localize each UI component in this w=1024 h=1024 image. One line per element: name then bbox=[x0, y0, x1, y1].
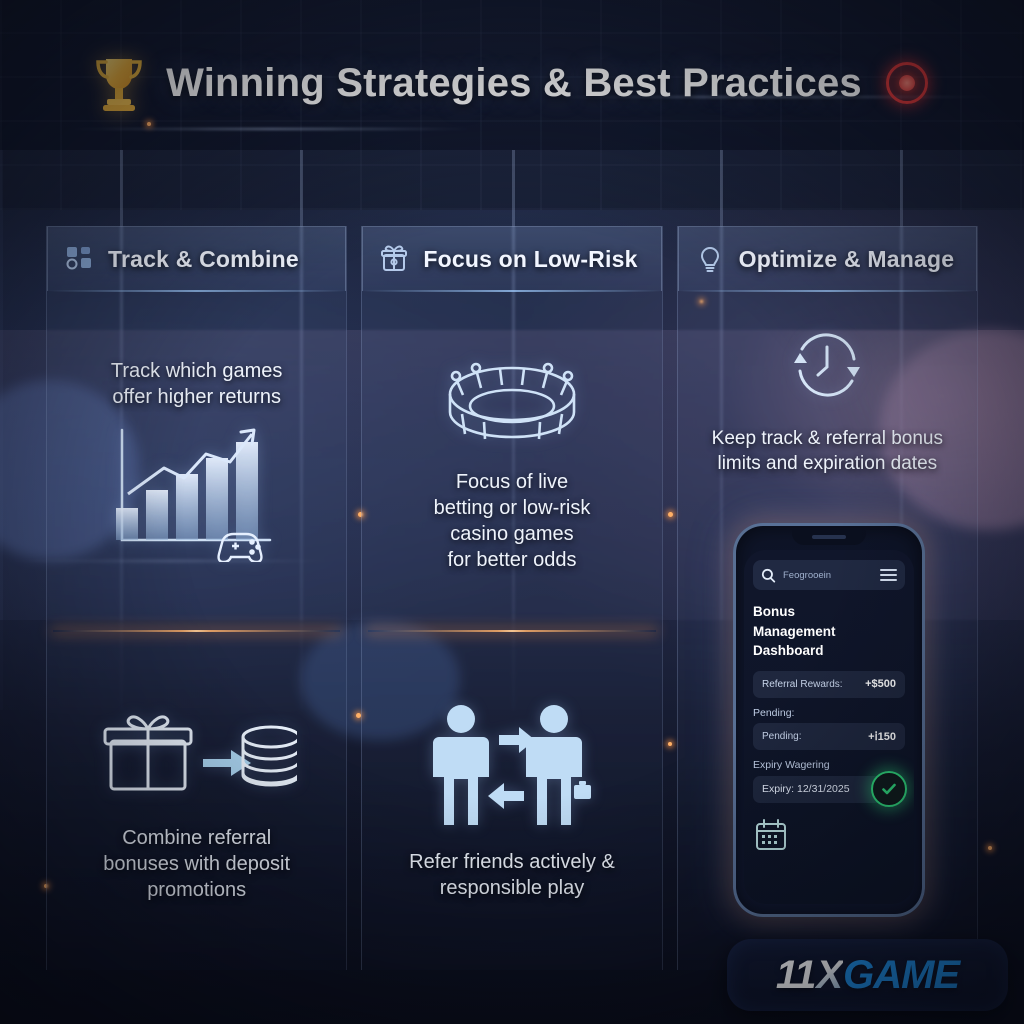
brand-part-game: GAME bbox=[843, 953, 959, 998]
brand-logo-text: 11 X GAME bbox=[776, 953, 959, 998]
grid-blocks-icon bbox=[64, 244, 94, 274]
row-label: Expiry: 12/31/2025 bbox=[762, 783, 850, 795]
row-expiry: Expiry: 12/31/2025 bbox=[753, 776, 905, 803]
search-icon bbox=[761, 568, 776, 583]
caption-focus-top: Focus of live betting or low-risk casino… bbox=[434, 469, 591, 573]
label-pending: Pending: bbox=[753, 707, 905, 719]
search-input[interactable]: Feogrooein bbox=[783, 570, 873, 581]
column-track-combine: Track & Combine Track which games offer … bbox=[46, 226, 347, 970]
row-label: Pending: bbox=[762, 731, 801, 742]
column-header-optimize-manage[interactable]: Optimize & Manage bbox=[678, 226, 977, 291]
row-label: Referral Rewards: bbox=[762, 679, 843, 690]
page-title-row: Winning Strategies & Best Practices bbox=[0, 46, 1024, 120]
hamburger-menu-icon[interactable] bbox=[880, 569, 897, 582]
row-value: +$500 bbox=[865, 678, 896, 690]
column-header-track-combine[interactable]: Track & Combine bbox=[47, 226, 346, 291]
trophy-icon bbox=[90, 53, 148, 113]
brand-logo-badge[interactable]: 11 X GAME bbox=[727, 939, 1008, 1011]
cell-focus-bottom: Refer friends actively & responsible pla… bbox=[362, 632, 661, 971]
column-body: Focus of live betting or low-risk casino… bbox=[362, 291, 661, 970]
row-value: +ⅰ150 bbox=[868, 730, 896, 743]
cell-focus-top: Focus of live betting or low-risk casino… bbox=[362, 291, 661, 630]
lightbulb-icon bbox=[695, 244, 725, 274]
caption-optimize-top: Keep track & referral bonus limits and e… bbox=[712, 427, 943, 476]
search-bar[interactable]: Feogrooein bbox=[753, 560, 905, 590]
column-title: Track & Combine bbox=[108, 246, 299, 273]
growth-bar-chart-with-gamepad-icon bbox=[102, 422, 292, 562]
clock-refresh-icon bbox=[784, 325, 870, 405]
two-people-exchange-icon bbox=[429, 701, 594, 831]
stadium-arena-icon bbox=[432, 348, 592, 453]
phone-notch bbox=[792, 530, 866, 545]
spark-particle bbox=[147, 122, 151, 126]
label-expiry-wagering: Expiry Wagering bbox=[753, 759, 905, 771]
light-streak bbox=[60, 128, 480, 130]
brand-part-x: X bbox=[815, 953, 843, 998]
column-header-focus-low-risk[interactable]: Focus on Low-Risk bbox=[362, 226, 661, 291]
cell-track-top: Track which games offer higher returns bbox=[47, 291, 346, 630]
red-target-icon bbox=[880, 56, 934, 110]
gift-box-icon bbox=[379, 244, 409, 274]
cell-track-bottom: Combine referral bonuses with deposit pr… bbox=[47, 632, 346, 971]
phone-mockup: Feogrooein Bonus Management Dashboard Re… bbox=[733, 523, 925, 917]
row-referral-rewards: Referral Rewards: +$500 bbox=[753, 671, 905, 698]
calendar-icon[interactable] bbox=[753, 817, 789, 853]
column-title: Focus on Low-Risk bbox=[423, 246, 637, 273]
dashboard-title: Bonus Management Dashboard bbox=[753, 602, 905, 661]
caption-track-top: Track which games offer higher returns bbox=[111, 358, 283, 410]
spark-particle bbox=[988, 846, 992, 850]
caption-track-bottom: Combine referral bonuses with deposit pr… bbox=[103, 825, 290, 903]
cell-optimize-top: Keep track & referral bonus limits and e… bbox=[678, 291, 977, 550]
page-title: Winning Strategies & Best Practices bbox=[166, 61, 862, 106]
green-check-icon bbox=[871, 771, 907, 807]
column-focus-low-risk: Focus on Low-Risk bbox=[361, 226, 662, 970]
gift-to-coins-icon bbox=[97, 699, 297, 809]
phone-screen: Feogrooein Bonus Management Dashboard Re… bbox=[744, 550, 914, 904]
row-pending: Pending: +ⅰ150 bbox=[753, 723, 905, 750]
brand-part-11: 11 bbox=[776, 953, 816, 998]
caption-focus-bottom: Refer friends actively & responsible pla… bbox=[409, 849, 615, 901]
column-body: Track which games offer higher returns bbox=[47, 291, 346, 970]
infographic-canvas: Winning Strategies & Best Practices Trac… bbox=[0, 0, 1024, 1024]
column-title: Optimize & Manage bbox=[739, 246, 955, 273]
